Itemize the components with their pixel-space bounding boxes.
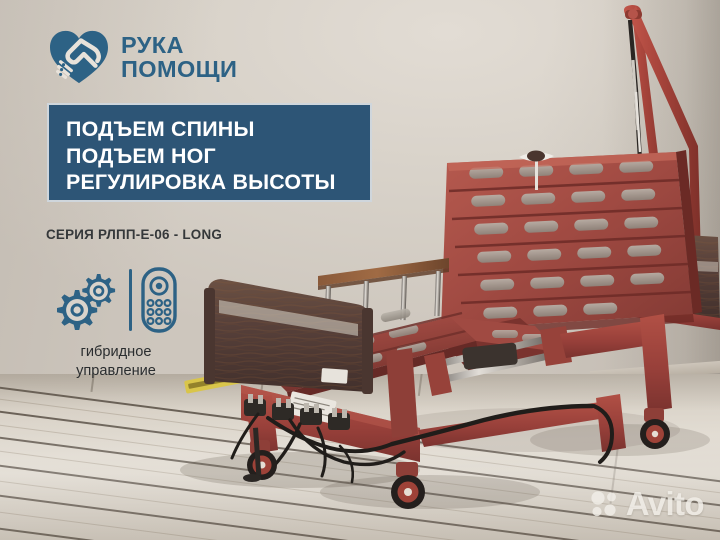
avito-watermark: Avito xyxy=(589,485,704,523)
avito-dots-icon xyxy=(589,490,619,518)
banner-line-3: РЕГУЛИРОВКА ВЫСОТЫ xyxy=(66,169,370,196)
gears-icon xyxy=(56,270,120,330)
brand-logo: РУКА ПОМОЩИ xyxy=(48,28,237,86)
control-type-feature: гибридное управление xyxy=(46,262,186,381)
caster-wheel-rear-right xyxy=(640,408,670,449)
caster-wheel-front-right xyxy=(391,462,425,509)
banner-line-2: ПОДЪЕМ НОГ xyxy=(66,143,370,170)
feature-banner: ПОДЪЕМ СПИНЫ ПОДЪЕМ НОГ РЕГУЛИРОВКА ВЫСО… xyxy=(47,103,372,202)
feature-caption-line2: управление xyxy=(46,362,186,381)
backrest-panel xyxy=(441,150,702,338)
product-photo: РУКА ПОМОЩИ ПОДЪЕМ СПИНЫ ПОДЪЕМ НОГ РЕГУ… xyxy=(0,0,720,540)
banner-line-1: ПОДЪЕМ СПИНЫ xyxy=(66,116,370,143)
handshake-heart-icon xyxy=(48,28,110,86)
brand-name: РУКА ПОМОЩИ xyxy=(121,33,237,82)
feature-caption: гибридное управление xyxy=(46,343,186,381)
brand-name-line1: РУКА xyxy=(121,33,237,57)
icon-divider xyxy=(129,269,132,331)
avito-wordmark: Avito xyxy=(626,485,704,523)
feature-caption-line1: гибридное xyxy=(46,343,186,362)
brand-name-line2: ПОМОЩИ xyxy=(121,57,237,81)
product-label xyxy=(321,368,348,384)
headboard-wood xyxy=(204,279,373,394)
remote-control-icon xyxy=(141,267,177,333)
series-label: СЕРИЯ РЛПП-Е-06 - LONG xyxy=(46,227,222,242)
